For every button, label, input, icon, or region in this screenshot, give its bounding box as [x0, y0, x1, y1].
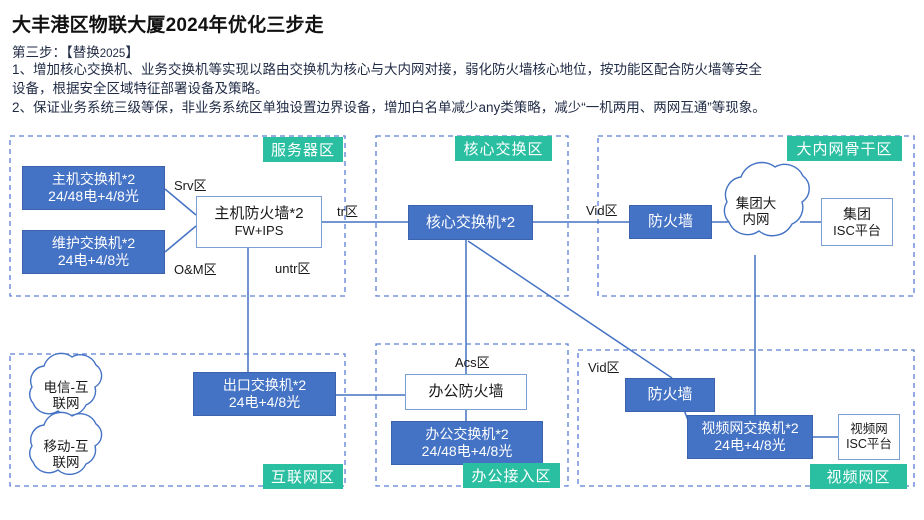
edge-label-vid-bottom: Vid区 [588, 357, 620, 376]
zone-label-office: 办公接入区 [463, 463, 560, 488]
node-video-isc-line2: ISC平台 [846, 437, 892, 452]
cloud-telecom-internet [30, 353, 102, 415]
edge-label-vid-top: Vid区 [586, 200, 618, 219]
edge-label-srv: Srv区 [174, 175, 207, 194]
edge-label-tr: tr区 [337, 201, 358, 220]
node-host-firewall-line2: FW+IPS [235, 223, 284, 238]
node-group-isc-line1: 集团 [843, 206, 871, 223]
cloud-mobile-internet [30, 412, 102, 474]
node-exit-switch-line2: 24电+4/8光 [229, 394, 300, 411]
node-video-switch-line1: 视频网交换机*2 [701, 420, 798, 437]
node-exit-switch[interactable]: 出口交换机*2 24电+4/8光 [193, 372, 336, 416]
link-core-switch-to-video-fw [468, 241, 672, 378]
node-group-isc-platform[interactable]: 集团 ISC平台 [821, 198, 893, 246]
edge-label-om: O&M区 [174, 259, 217, 278]
node-office-switch[interactable]: 办公交换机*2 24/48电+4/8光 [391, 421, 543, 465]
node-office-switch-line1: 办公交换机*2 [425, 426, 508, 443]
node-video-isc-line1: 视频网 [850, 422, 888, 437]
zone-label-server: 服务器区 [263, 137, 343, 162]
edge-label-untr: untr区 [275, 258, 310, 277]
node-core-switch-line1: 核心交换机*2 [426, 214, 515, 232]
node-host-firewall-line1: 主机防火墙*2 [214, 205, 303, 223]
zone-label-backbone: 大内网骨干区 [787, 136, 902, 161]
node-video-firewall[interactable]: 防火墙 [625, 378, 715, 412]
node-office-firewall[interactable]: 办公防火墙 [405, 374, 527, 410]
zone-label-core: 核心交换区 [455, 136, 552, 161]
node-video-firewall-line1: 防火墙 [647, 386, 692, 404]
edge-label-acs: Acs区 [455, 352, 490, 371]
node-video-isc-platform[interactable]: 视频网 ISC平台 [838, 414, 900, 460]
node-core-switch[interactable]: 核心交换机*2 [408, 205, 533, 240]
link-maint-switch-to-host-fw [165, 226, 196, 252]
node-backbone-firewall[interactable]: 防火墙 [629, 205, 712, 239]
node-maint-switch-line1: 维护交换机*2 [52, 235, 135, 252]
node-office-firewall-line1: 办公防火墙 [428, 383, 503, 401]
cloud-group-intranet [724, 163, 809, 236]
node-host-switch-line1: 主机交换机*2 [52, 171, 135, 188]
node-backbone-firewall-line1: 防火墙 [648, 213, 693, 231]
node-host-switch-line2: 24/48电+4/8光 [48, 188, 139, 205]
node-host-switch[interactable]: 主机交换机*2 24/48电+4/8光 [22, 166, 165, 210]
node-exit-switch-line1: 出口交换机*2 [223, 377, 306, 394]
node-group-isc-line2: ISC平台 [833, 223, 881, 238]
node-video-switch-line2: 24电+4/8光 [714, 437, 785, 454]
node-office-switch-line2: 24/48电+4/8光 [422, 443, 513, 460]
node-maint-switch-line2: 24电+4/8光 [58, 252, 129, 269]
zone-label-internet: 互联网区 [263, 464, 343, 489]
node-host-firewall[interactable]: 主机防火墙*2 FW+IPS [196, 196, 322, 248]
zone-label-video: 视频网区 [810, 464, 907, 489]
node-maint-switch[interactable]: 维护交换机*2 24电+4/8光 [22, 230, 165, 274]
node-video-switch[interactable]: 视频网交换机*2 24电+4/8光 [687, 415, 813, 459]
